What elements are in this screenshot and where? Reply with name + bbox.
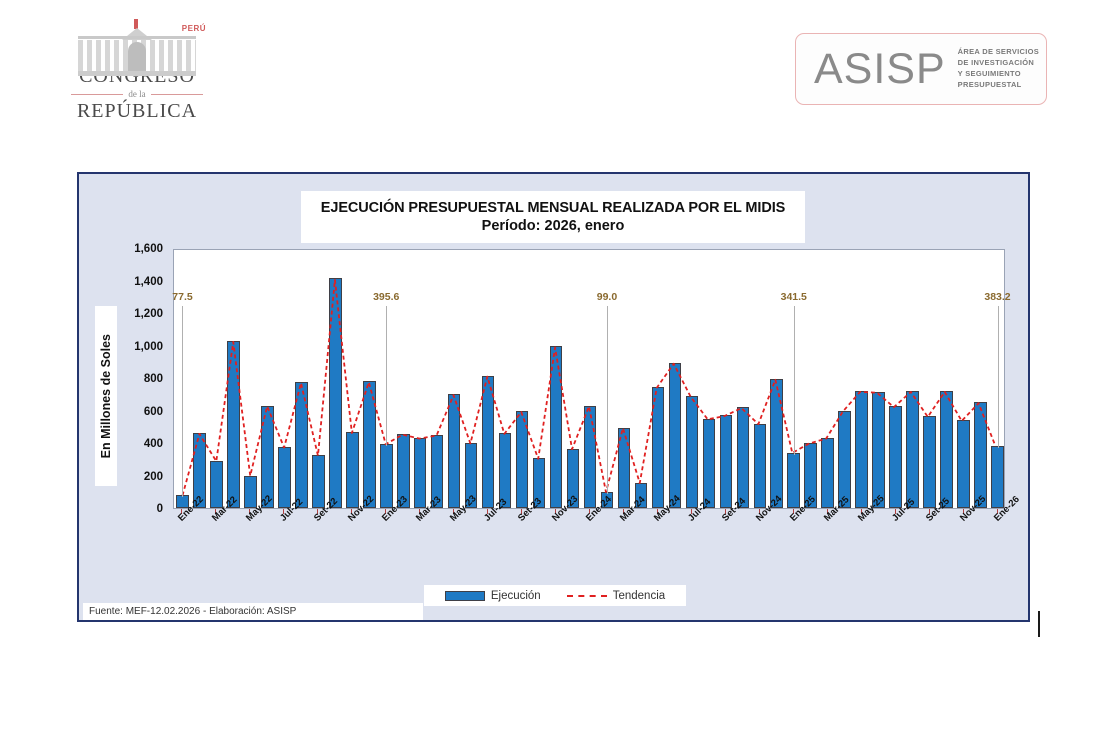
y-tick-label: 1,400 [134,276,163,288]
legend-item-tendencia: Tendencia [567,590,665,602]
legend-label-ejecucion: Ejecución [491,590,541,602]
y-axis-label-text: En Millones de Soles [99,334,113,458]
peru-label: PERÚ [182,24,206,33]
chart-subtitle: Período: 2026, enero [482,218,625,234]
chart-title: EJECUCIÓN PRESUPUESTAL MENSUAL REALIZADA… [321,200,785,216]
y-axis-ticks: 02004006008001,0001,2001,4001,600 [120,249,169,511]
y-tick-label: 800 [144,373,163,385]
legend-item-ejecucion: Ejecución [445,590,541,602]
annotation-label: 383.2 [984,291,1010,303]
flag-icon [134,19,138,29]
annotation-label: 395.6 [373,291,399,303]
chart-legend: Ejecución Tendencia [424,585,686,606]
base-shape [78,71,196,76]
asisp-logo: ASISP ÁREA DE SERVICIOS DE INVESTIGACIÓN… [795,33,1047,105]
annotation-label: 99.0 [597,291,617,303]
asisp-subtitle-line-1: ÁREA DE SERVICIOS [958,47,1039,58]
y-tick-label: 1,200 [134,308,163,320]
arch-shape [128,42,146,71]
annotation-leader-line [998,306,999,448]
text-cursor-caret [1038,611,1040,637]
chart-card: EJECUCIÓN PRESUPUESTAL MENSUAL REALIZADA… [77,172,1030,622]
source-note: Fuente: MEF-12.02.2026 - Elaboración: AS… [83,603,423,620]
congreso-dela-text: de la [128,89,145,99]
annotation-label: 341.5 [781,291,807,303]
y-tick-label: 0 [157,503,163,515]
legend-dash-swatch [567,595,607,597]
annotation-leader-line [386,306,387,446]
y-axis-label: En Millones de Soles [95,306,117,486]
asisp-subtitle-line-2: DE INVESTIGACIÓN [958,58,1039,69]
y-tick-label: 1,000 [134,341,163,353]
divider-right [151,94,203,95]
plot-wrapper: 02004006008001,0001,2001,4001,600 77.539… [120,249,1010,519]
legend-bar-swatch [445,591,485,601]
congreso-republica-logo: PERÚ CONGRESO de la REPÚBLICA [62,18,212,123]
y-tick-label: 600 [144,406,163,418]
chart-title-box: EJECUCIÓN PRESUPUESTAL MENSUAL REALIZADA… [301,191,805,243]
plot-area: 77.5395.699.0341.5383.2 [173,249,1005,509]
republica-wordmark: REPÚBLICA [77,100,197,123]
asisp-subtitle-line-4: PRESUPUESTAL [958,80,1039,91]
legend-label-tendencia: Tendencia [613,590,665,602]
asisp-wordmark: ASISP [814,48,946,91]
roofline-shape [78,36,196,39]
trend-line-series [174,250,1004,508]
asisp-subtitle-line-3: Y SEGUIMIENTO [958,69,1039,80]
divider-left [71,94,123,95]
annotation-label: 77.5 [172,291,192,303]
y-tick-label: 1,600 [134,243,163,255]
annotation-leader-line [182,306,183,497]
annotation-leader-line [607,306,608,494]
congress-building-icon: PERÚ [78,28,196,60]
y-tick-label: 400 [144,438,163,450]
congreso-dela-row: de la [71,89,203,99]
x-axis: Ene-22Mar-22May-22Jul-22Set-22Nov-22Ene-… [173,509,1005,579]
y-tick-label: 200 [144,471,163,483]
asisp-subtitle: ÁREA DE SERVICIOS DE INVESTIGACIÓN Y SEG… [958,47,1039,91]
page-header: PERÚ CONGRESO de la REPÚBLICA ASISP ÁREA… [0,0,1112,150]
annotation-leader-line [794,306,795,455]
